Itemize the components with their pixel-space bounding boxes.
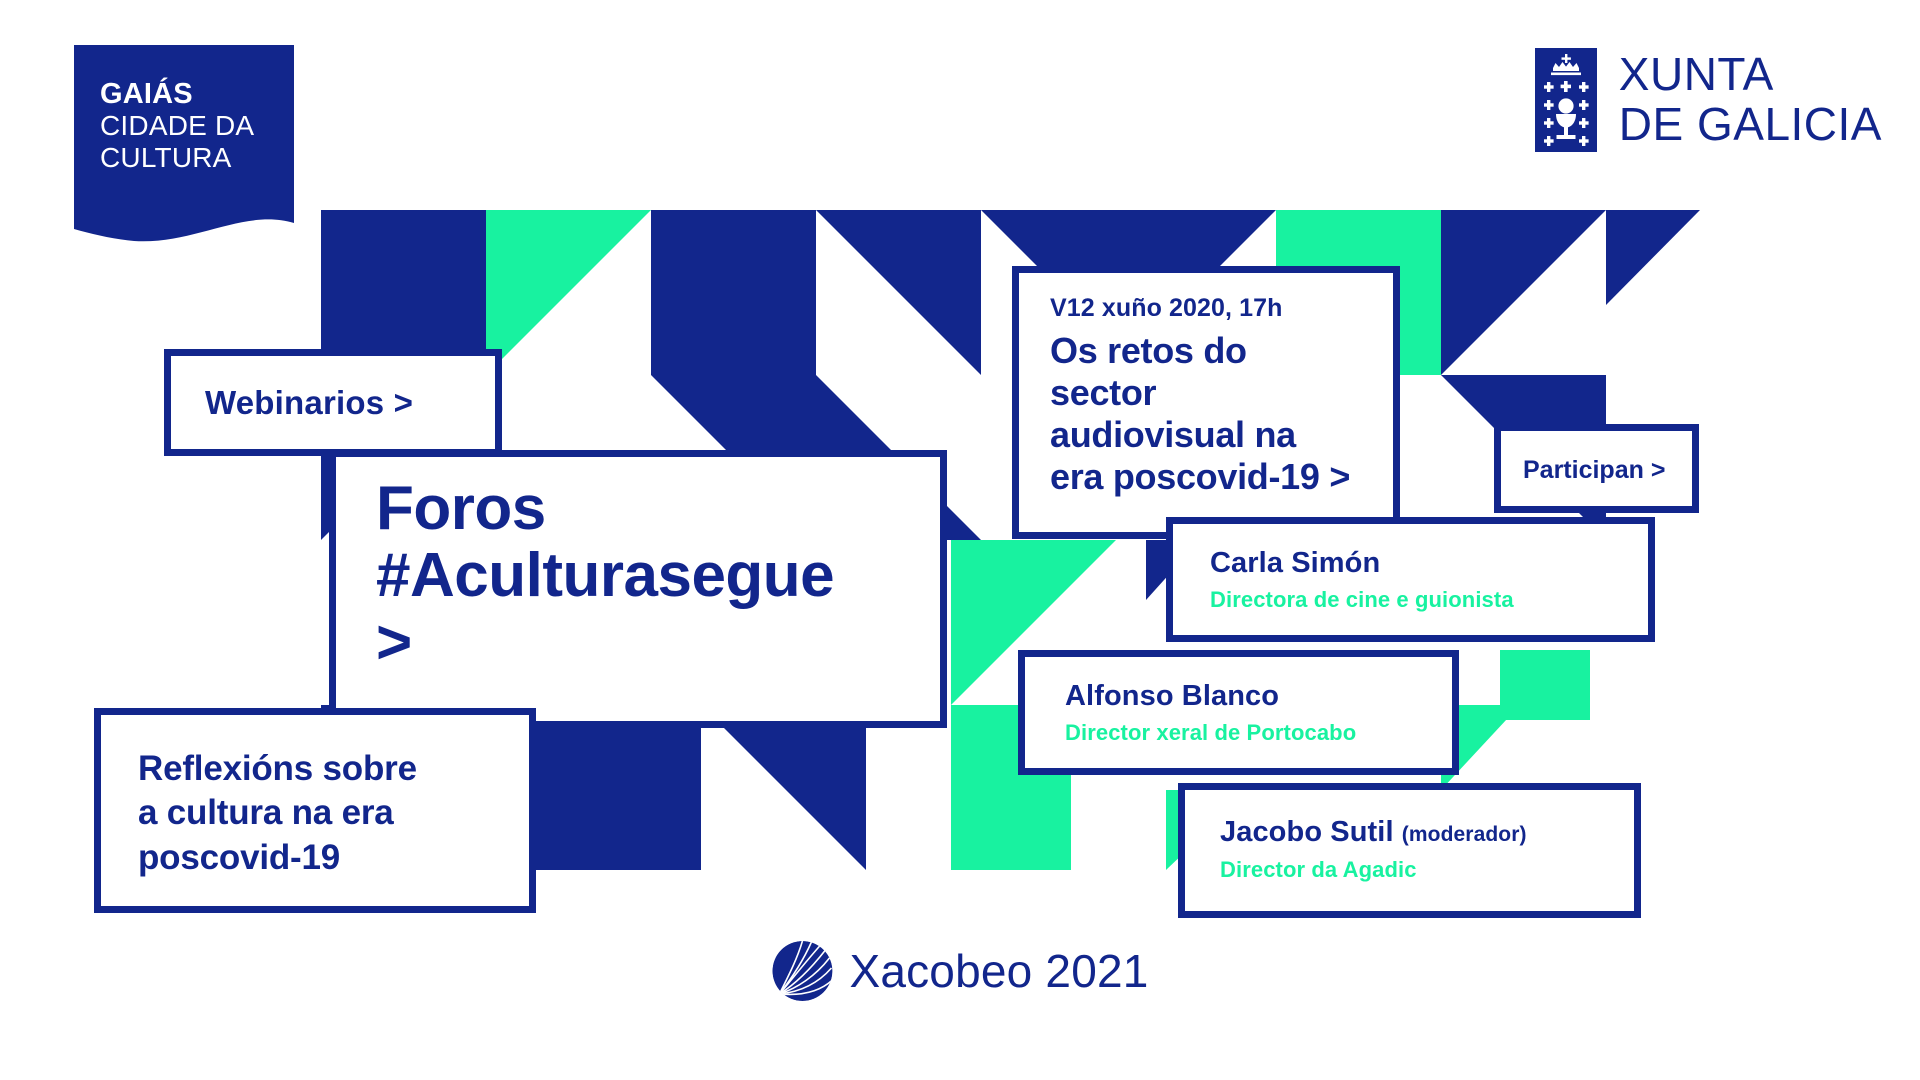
- gaias-logo-text: GAIÁS CIDADE DA CULTURA: [100, 78, 254, 173]
- xunta-line-2: DE GALICIA: [1619, 100, 1882, 150]
- galicia-coat-of-arms-icon: [1535, 48, 1597, 152]
- speaker-name: Carla Simón: [1210, 547, 1380, 580]
- gaias-logo: GAIÁS CIDADE DA CULTURA: [74, 45, 294, 250]
- speaker-role: Directora de cine e guionista: [1210, 587, 1514, 613]
- xunta-line-1: XUNTA: [1619, 50, 1882, 100]
- gaias-line-3: CULTURA: [100, 142, 254, 173]
- reflexions-line-3: poscovid-19: [138, 836, 417, 880]
- speaker-name: Jacobo Sutil (moderador): [1220, 816, 1527, 849]
- reflexions-subtitle-card: Reflexións sobre a cultura na era poscov…: [94, 708, 536, 913]
- participan-tag[interactable]: Participan >: [1494, 424, 1699, 513]
- gaias-line-2: CIDADE DA: [100, 110, 254, 141]
- xunta-logo-text: XUNTA DE GALICIA: [1619, 50, 1882, 149]
- foros-title-card[interactable]: Foros #Aculturasegue >: [329, 450, 947, 728]
- webinarios-tag[interactable]: Webinarios >: [164, 349, 502, 456]
- foros-line-3: >: [376, 610, 834, 677]
- event-title-line-1: Os retos do: [1050, 330, 1350, 372]
- reflexions-line-2: a cultura na era: [138, 791, 417, 835]
- gaias-line-1: GAIÁS: [100, 78, 254, 110]
- event-title-line-3: audiovisual na: [1050, 414, 1350, 456]
- foros-line-2: #Aculturasegue: [376, 543, 834, 610]
- poster-canvas: GAIÁS CIDADE DA CULTURA: [0, 0, 1920, 1080]
- participan-label: Participan >: [1523, 456, 1665, 485]
- event-title-line-4: era poscovid-19 >: [1050, 456, 1350, 498]
- xunta-de-galicia-logo: XUNTA DE GALICIA: [1535, 48, 1882, 152]
- reflexions-text: Reflexións sobre a cultura na era poscov…: [138, 747, 417, 880]
- speaker-card: Jacobo Sutil (moderador) Director da Aga…: [1178, 783, 1641, 918]
- event-details-card[interactable]: V12 xuño 2020, 17h Os retos do sector au…: [1012, 266, 1400, 539]
- webinarios-label: Webinarios >: [205, 384, 413, 422]
- speaker-card: Carla Simón Directora de cine e guionist…: [1166, 517, 1655, 642]
- scallop-shell-icon: [771, 940, 833, 1002]
- reflexions-line-1: Reflexións sobre: [138, 747, 417, 791]
- event-title: Os retos do sector audiovisual na era po…: [1050, 330, 1350, 498]
- speaker-role: Director da Agadic: [1220, 857, 1417, 883]
- foros-line-1: Foros: [376, 476, 834, 543]
- xacobeo-label: Xacobeo 2021: [849, 944, 1148, 998]
- speaker-name-text: Jacobo Sutil: [1220, 816, 1394, 848]
- xacobeo-2021-logo: Xacobeo 2021: [771, 940, 1148, 1002]
- event-title-line-2: sector: [1050, 372, 1350, 414]
- foros-title-text: Foros #Aculturasegue >: [376, 476, 834, 677]
- event-date: V12 xuño 2020, 17h: [1050, 294, 1282, 323]
- speaker-card: Alfonso Blanco Director xeral de Portoca…: [1018, 650, 1459, 775]
- speaker-moderator-note: (moderador): [1402, 823, 1527, 846]
- speaker-name: Alfonso Blanco: [1065, 680, 1279, 713]
- speaker-role: Director xeral de Portocabo: [1065, 720, 1356, 746]
